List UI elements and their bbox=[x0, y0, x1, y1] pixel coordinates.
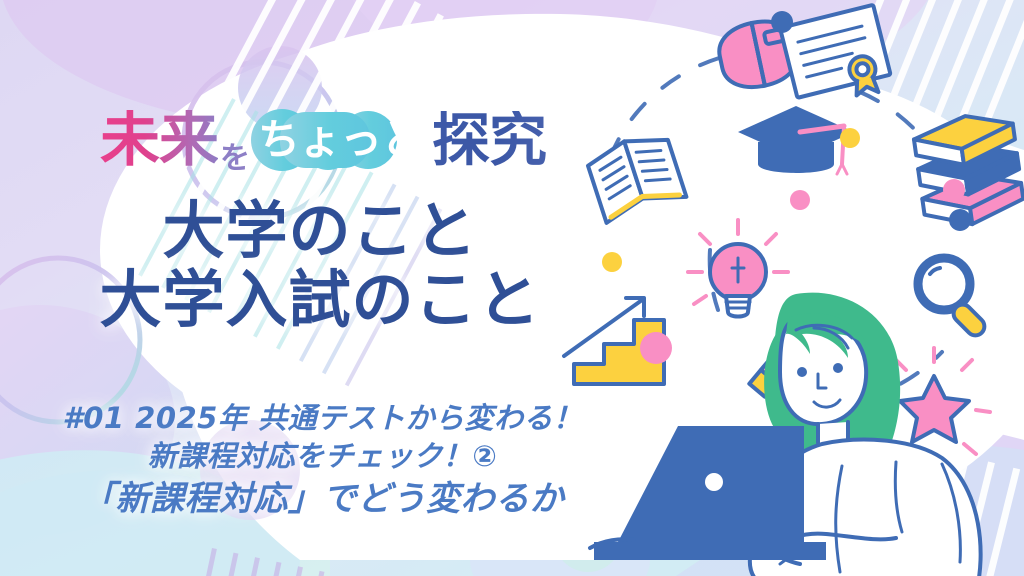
lightbulb-icon bbox=[688, 220, 788, 317]
page-title-line-1: 大学のこと bbox=[60, 196, 580, 265]
dot-yellow-1 bbox=[840, 128, 860, 148]
brand-logo: 未来 を ちょっと 探究 bbox=[100, 96, 560, 184]
banner-content: 未来 を ちょっと 探究 大学のこと 大学入試のこと #01 2025年 共通テ… bbox=[0, 0, 1024, 576]
dot-pink-1 bbox=[790, 190, 810, 210]
subtitle-line-3: 「新課程対応」でどう変わるか bbox=[50, 477, 595, 521]
certificate-icon bbox=[780, 5, 894, 112]
subtitle-line-1: #01 2025年 共通テストから変わる！ bbox=[50, 400, 595, 438]
study-illustration bbox=[560, 0, 1024, 576]
banner-root: 未来 を ちょっと 探究 大学のこと 大学入試のこと #01 2025年 共通テ… bbox=[0, 0, 1024, 576]
dot-yellow-2 bbox=[602, 252, 622, 272]
logo-part-tankyu: 探究 bbox=[432, 111, 546, 169]
logo-part-wo: を bbox=[220, 144, 249, 174]
logo-part-chotto: ちょっと bbox=[258, 119, 422, 161]
logo-part-mirai: 未来 bbox=[100, 110, 218, 170]
dot-blue-2 bbox=[949, 209, 971, 231]
dot-pink-2 bbox=[943, 179, 965, 201]
open-book-blue-icon bbox=[584, 128, 686, 222]
dot-pink-3 bbox=[640, 332, 672, 364]
graduation-cap-icon bbox=[738, 106, 854, 174]
episode-subtitle: #01 2025年 共通テストから変わる！ 新課程対応をチェック！② 「新課程対… bbox=[50, 400, 595, 522]
page-title: 大学のこと 大学入試のこと bbox=[60, 196, 580, 335]
subtitle-line-2: 新課程対応をチェック！② bbox=[50, 438, 595, 476]
page-title-line-2: 大学入試のこと bbox=[60, 265, 580, 334]
magnifier-icon bbox=[918, 258, 988, 339]
dot-blue-1 bbox=[771, 11, 793, 33]
